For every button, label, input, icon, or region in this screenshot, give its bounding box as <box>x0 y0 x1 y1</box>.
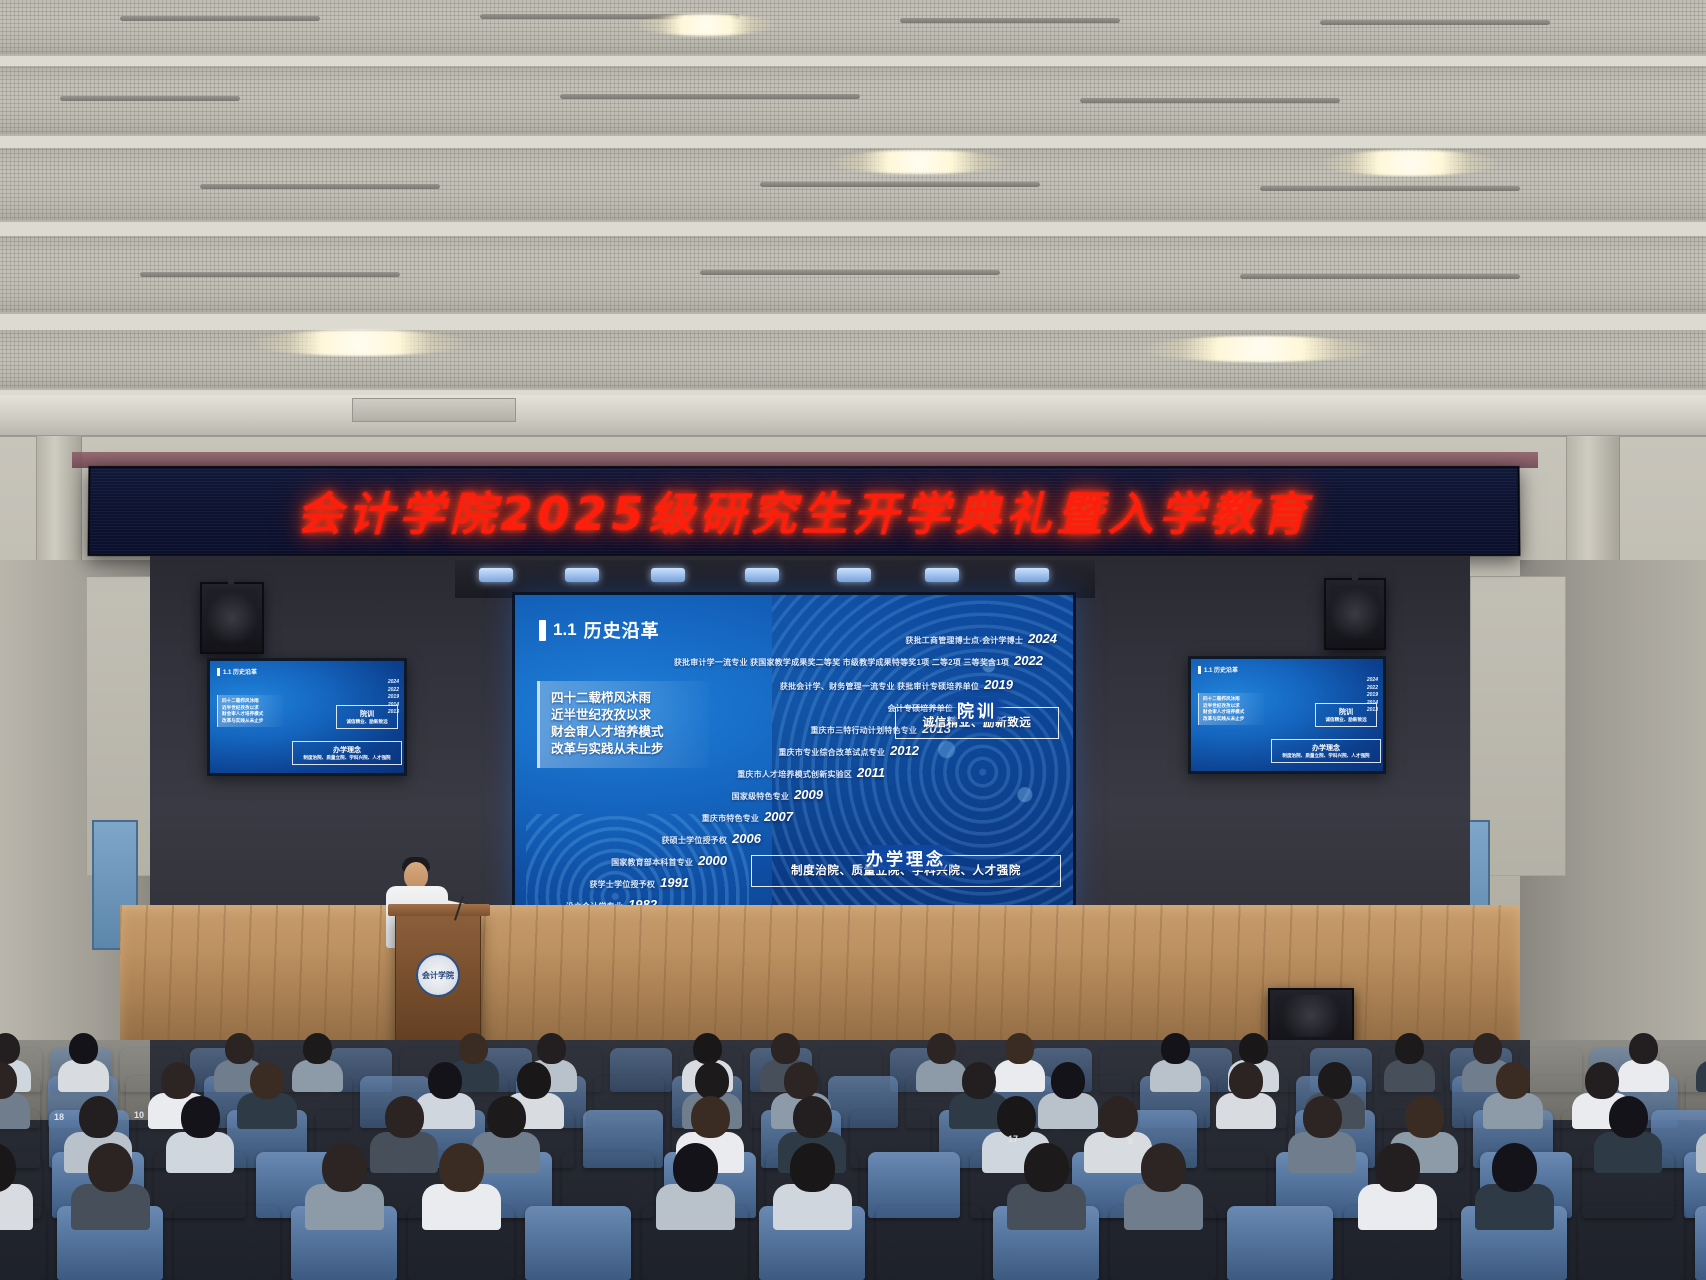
timeline-desc: 获硕士学位授予权 <box>661 835 727 846</box>
main-projection-screen: 1.1 历史沿革 四十二载栉风沐雨 近半世纪孜孜以求 财会审人才培养模式 改革与… <box>512 592 1076 920</box>
timeline-desc: 获批工商管理博士点-会计学博士 <box>905 635 1023 646</box>
mini-callout-motto: 院训 诚信精业、励新致远 <box>336 705 398 729</box>
timeline-row: 重庆市人才培养模式创新实验区 2011 <box>737 765 885 780</box>
audience-head <box>1629 1033 1658 1064</box>
podium-emblem: 会计学院 <box>416 953 460 997</box>
ceiling-light <box>1140 336 1380 362</box>
timeline-desc: 获批会计学、财务管理一流专业 获批审计专硕培养单位 <box>780 681 979 692</box>
side-monitor-right: 1.1 历史沿革 2024 2022 2019 2014 2013 四十二载栉风… <box>1188 656 1386 774</box>
speaker-mount-right <box>1352 556 1358 580</box>
audience-member <box>1150 1060 1201 1092</box>
audience-head <box>693 1033 722 1064</box>
timeline-year: 2022 <box>1014 653 1043 668</box>
audience-head <box>1229 1062 1263 1099</box>
audience-head <box>250 1062 284 1099</box>
audience-member <box>1618 1060 1669 1092</box>
audience-head <box>322 1143 367 1192</box>
timeline-year: 2006 <box>732 831 761 846</box>
callout-philosophy-tab: 办学理念 <box>856 845 956 870</box>
callout-motto-tab: 院训 <box>947 697 1007 722</box>
audience-member <box>0 1184 33 1230</box>
ceiling-light <box>830 150 1010 174</box>
audience-head <box>927 1033 956 1064</box>
audience-head <box>303 1033 332 1064</box>
audience-member <box>292 1060 343 1092</box>
audience-head <box>517 1062 551 1099</box>
mini-slide-title: 1.1 历史沿革 <box>1198 665 1238 674</box>
audience-head <box>459 1033 488 1064</box>
timeline-desc: 重庆市专业综合改革试点专业 <box>778 747 885 758</box>
timeline-year: 2012 <box>890 743 919 758</box>
mini-callout-philosophy: 办学理念 制度治院、质量立院、学科兴院、人才强院 <box>1271 739 1381 763</box>
ceiling-light <box>1320 150 1500 176</box>
callout-motto: 院训 诚信精业、励新致远 <box>895 707 1059 739</box>
audience-head <box>793 1096 832 1138</box>
podium-top <box>388 904 490 916</box>
audience-head <box>161 1062 195 1099</box>
timeline-desc: 国家教育部本科首专业 <box>611 857 693 868</box>
timeline-row: 国家教育部本科首专业 2000 <box>611 853 727 868</box>
seat[interactable] <box>1695 1206 1706 1280</box>
audience-head <box>385 1096 424 1138</box>
timeline-desc: 获学士学位授予权 <box>589 879 655 890</box>
callout-philosophy: 办学理念 制度治院、质量立院、学科兴院、人才强院 <box>751 855 1061 887</box>
audience-head <box>1239 1033 1268 1064</box>
timeline-desc: 重庆市特色专业 <box>702 813 759 824</box>
timeline-row: 重庆市特色专业 2007 <box>702 809 793 824</box>
audience-head <box>695 1062 729 1099</box>
timeline-year: 2019 <box>984 677 1013 692</box>
audience-head <box>1005 1033 1034 1064</box>
timeline-year: 2000 <box>698 853 727 868</box>
audience-head <box>225 1033 254 1064</box>
audience-head <box>439 1143 484 1192</box>
audience-member <box>994 1060 1045 1092</box>
stage-lamp <box>565 568 599 582</box>
seat-number: 8 <box>1128 1136 1133 1146</box>
stage-lamp <box>837 568 871 582</box>
timeline-year: 2007 <box>764 809 793 824</box>
audience-member <box>166 1132 234 1173</box>
stage-lamp <box>1015 568 1049 582</box>
led-banner-text: 会计学院2025级研究生开学典礼暨入学教育 <box>90 478 1519 544</box>
audience-head <box>69 1033 98 1064</box>
timeline-year: 1991 <box>660 875 689 890</box>
audience-head <box>1609 1096 1648 1138</box>
timeline-row: 获批工商管理博士点-会计学博士 2024 <box>905 631 1057 646</box>
mini-left-block: 四十二载栉风沐雨 近半世纪孜孜以求 财会审人才培养模式 改革与实践从未止步 <box>217 695 283 727</box>
timeline-row: 获学士学位授予权 1991 <box>589 875 689 890</box>
audience-head <box>1024 1143 1069 1192</box>
floor-monitor-speaker <box>1268 988 1354 1044</box>
audience-head <box>79 1096 118 1138</box>
audience-head <box>428 1062 462 1099</box>
timeline-row: 获硕士学位授予权 2006 <box>661 831 761 846</box>
audience-head <box>0 1033 20 1064</box>
audience-head <box>1099 1096 1138 1138</box>
audience-member <box>58 1060 109 1092</box>
mini-slide-title: 1.1 历史沿革 <box>217 667 257 676</box>
audience-head <box>790 1143 835 1192</box>
mini-callout-motto: 院训 诚信精业、励新致远 <box>1315 703 1377 727</box>
audience-head <box>88 1143 133 1192</box>
stage-speaker-left <box>200 582 264 654</box>
speaker-mount-left <box>228 560 234 584</box>
seat-number: 10 <box>134 1110 144 1120</box>
audience-head <box>997 1096 1036 1138</box>
timeline-row: 获批会计学、财务管理一流专业 获批审计专硕培养单位 2019 <box>780 677 1013 692</box>
audience-member <box>1288 1132 1356 1173</box>
audience-head <box>1375 1143 1420 1192</box>
audience-member <box>370 1132 438 1173</box>
presenter-head <box>404 862 428 889</box>
audience-head <box>691 1096 730 1138</box>
mini-callout-philosophy: 办学理念 制度治院、质量立院、学科兴院、人才强院 <box>292 741 402 765</box>
audience-head <box>784 1062 818 1099</box>
led-banner: 会计学院2025级研究生开学典礼暨入学教育 <box>88 466 1521 556</box>
stage-lamp <box>651 568 685 582</box>
audience-head <box>1318 1062 1352 1099</box>
mini-left-block: 四十二载栉风沐雨 近半世纪孜孜以求 财会审人才培养模式 改革与实践从未止步 <box>1198 693 1264 725</box>
audience-head <box>962 1062 996 1099</box>
ceiling-light <box>636 14 776 36</box>
stage-speaker-right <box>1324 578 1386 650</box>
timeline-desc: 获批审计学一流专业 获国家教学成果奖二等奖 市级教学成果特等奖1项 二等2项 三… <box>674 657 1009 668</box>
audience-head <box>1405 1096 1444 1138</box>
seat[interactable] <box>876 1206 982 1280</box>
timeline-year: 2011 <box>857 765 885 780</box>
timeline-year: 2024 <box>1028 631 1057 646</box>
audience-head <box>1141 1143 1186 1192</box>
audience-head <box>1473 1033 1502 1064</box>
audience-member <box>1384 1060 1435 1092</box>
audience-head <box>537 1033 566 1064</box>
wall-vent <box>352 398 516 422</box>
timeline-year: 2009 <box>794 787 823 802</box>
audience-head <box>1492 1143 1537 1192</box>
audience-head <box>181 1096 220 1138</box>
audience-head <box>1496 1062 1530 1099</box>
audience-member <box>1594 1132 1662 1173</box>
timeline-desc: 重庆市人才培养模式创新实验区 <box>737 769 852 780</box>
auditorium-scene: 会计学院2025级研究生开学典礼暨入学教育 1.1 历史沿革 四十二载栉风沐雨 … <box>0 0 1706 1280</box>
seat[interactable] <box>1578 1206 1684 1280</box>
audience-head <box>673 1143 718 1192</box>
timeline-desc: 国家级特色专业 <box>732 791 789 802</box>
audience-head <box>1303 1096 1342 1138</box>
timeline-row: 国家级特色专业 2009 <box>732 787 823 802</box>
seat[interactable] <box>525 1206 631 1280</box>
timeline-row: 获批审计学一流专业 获国家教学成果奖二等奖 市级教学成果特等奖1项 二等2项 三… <box>674 653 1043 668</box>
audience-head <box>1051 1062 1085 1099</box>
stage-lamp <box>745 568 779 582</box>
seat[interactable] <box>174 1206 280 1280</box>
audience-head <box>1395 1033 1424 1064</box>
seat[interactable] <box>1227 1206 1333 1280</box>
audience-head <box>1585 1062 1619 1099</box>
timeline-row: 重庆市专业综合改革试点专业 2012 <box>778 743 919 758</box>
seat-number: 18 <box>54 1112 64 1122</box>
audience-member <box>916 1060 967 1092</box>
seat-number: 17 <box>1008 1134 1018 1144</box>
podium: 会计学院 <box>395 912 481 1044</box>
audience-head <box>771 1033 800 1064</box>
ceiling-light <box>250 330 470 356</box>
ceiling <box>0 0 1706 420</box>
stage-lamp <box>479 568 513 582</box>
audience-head <box>1161 1033 1190 1064</box>
side-monitor-left: 1.1 历史沿革 2024 2022 2019 2014 2013 四十二载栉风… <box>207 658 407 776</box>
audience-head <box>487 1096 526 1138</box>
podium-emblem-label: 会计学院 <box>422 970 454 981</box>
stage-lamp <box>925 568 959 582</box>
